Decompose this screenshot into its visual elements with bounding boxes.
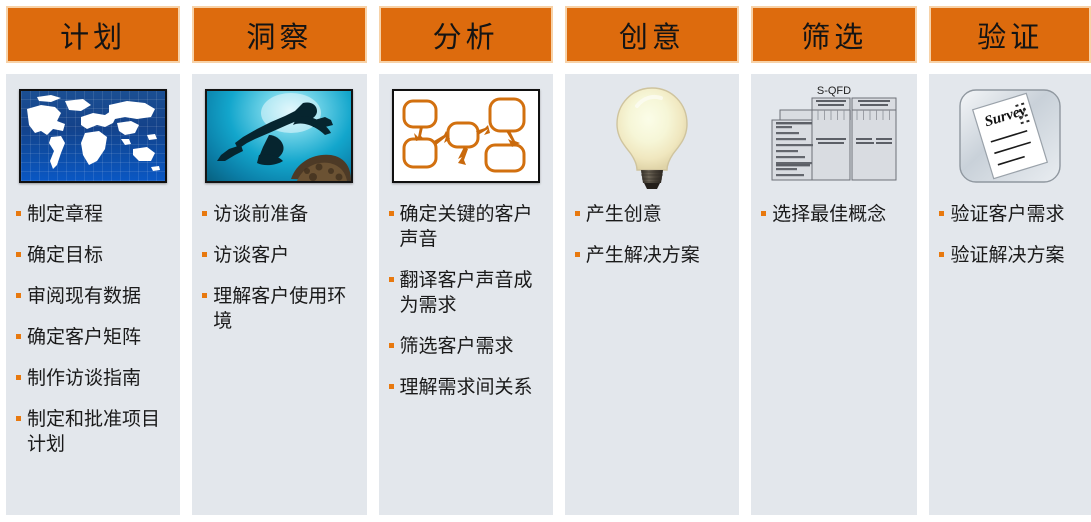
phase-body-creative: 产生创意产生解决方案 <box>565 74 739 515</box>
phase-title: 洞察 <box>246 14 312 56</box>
bullet-label: 访谈前准备 <box>213 202 358 227</box>
list-item[interactable]: 翻译客户声音成为需求 <box>389 268 545 318</box>
phase-bullet-list: 制定章程确定目标审阅现有数据确定客户矩阵制作访谈指南制定和批准项目计划 <box>6 198 180 515</box>
list-item[interactable]: 制作访谈指南 <box>16 366 172 391</box>
bullet-label: 制定章程 <box>27 202 172 227</box>
bullet-label: 产生解决方案 <box>586 243 731 268</box>
phase-bullet-list: 确定关键的客户声音翻译客户声音成为需求筛选客户需求理解需求间关系 <box>379 198 553 515</box>
bullet-label: 产生创意 <box>586 202 731 227</box>
phase-title: 分析 <box>433 14 499 56</box>
bullet-square-icon <box>202 211 207 216</box>
list-item[interactable]: 确定目标 <box>16 243 172 268</box>
phase-body-screening: S-QFD选择最佳概念 <box>751 74 917 515</box>
lightbulb-icon <box>597 80 707 192</box>
phase-bullet-list: 选择最佳概念 <box>751 198 917 515</box>
sqfd-matrix-image: S-QFD <box>766 80 902 192</box>
bullet-square-icon <box>16 252 21 257</box>
bullet-square-icon <box>202 293 207 298</box>
phase-column-plan[interactable]: 计划制定章程确定目标审阅现有数据确定客户矩阵制作访谈指南制定和批准项目计划 <box>6 0 180 522</box>
list-item[interactable]: 验证客户需求 <box>939 202 1083 227</box>
list-item[interactable]: 产生解决方案 <box>575 243 731 268</box>
bullet-label: 制定和批准项目计划 <box>27 407 172 457</box>
bullet-square-icon <box>16 375 21 380</box>
phase-bullet-list: 验证客户需求验证解决方案 <box>929 198 1091 515</box>
scuba-diver-image <box>205 89 353 183</box>
lightbulb-glyph <box>597 80 707 192</box>
bullet-square-icon <box>575 252 580 257</box>
bullet-square-icon <box>16 416 21 421</box>
bullet-label: 制作访谈指南 <box>27 366 172 391</box>
phase-header-insight[interactable]: 洞察 <box>192 6 366 63</box>
bullet-label: 确定目标 <box>27 243 172 268</box>
survey-document-icon: Survey <box>954 84 1066 188</box>
bullet-square-icon <box>939 211 944 216</box>
list-item[interactable]: 制定章程 <box>16 202 172 227</box>
bullet-square-icon <box>389 211 394 216</box>
bullet-label: 筛选客户需求 <box>400 334 545 359</box>
bullet-square-icon <box>389 277 394 282</box>
phase-body-validation: Survey验证客户需求验证解决方案 <box>929 74 1091 515</box>
svg-text:S-QFD: S-QFD <box>817 85 851 97</box>
phase-header-plan[interactable]: 计划 <box>6 6 180 63</box>
bullet-square-icon <box>761 211 766 216</box>
phase-thumbnail-wrap: S-QFD <box>751 74 917 198</box>
phase-header-creative[interactable]: 创意 <box>565 6 739 63</box>
list-item[interactable]: 审阅现有数据 <box>16 284 172 309</box>
bullet-label: 验证客户需求 <box>950 202 1083 227</box>
phase-body-plan: 制定章程确定目标审阅现有数据确定客户矩阵制作访谈指南制定和批准项目计划 <box>6 74 180 515</box>
phase-title: 计划 <box>60 14 126 56</box>
bullet-square-icon <box>389 384 394 389</box>
list-item[interactable]: 制定和批准项目计划 <box>16 407 172 457</box>
survey-document-glyph: Survey <box>954 84 1066 188</box>
flow-diagram-image <box>392 89 540 183</box>
bullet-square-icon <box>575 211 580 216</box>
sqfd-matrix-glyph: S-QFD <box>766 80 902 192</box>
list-item[interactable]: 确定关键的客户声音 <box>389 202 545 252</box>
phase-title: 验证 <box>977 14 1043 56</box>
bullet-square-icon <box>16 293 21 298</box>
phase-body-analysis: 确定关键的客户声音翻译客户声音成为需求筛选客户需求理解需求间关系 <box>379 74 553 515</box>
bullet-square-icon <box>16 211 21 216</box>
bullet-square-icon <box>939 252 944 257</box>
phase-bullet-list: 产生创意产生解决方案 <box>565 198 739 515</box>
phase-thumbnail-wrap <box>6 74 180 198</box>
bullet-label: 审阅现有数据 <box>27 284 172 309</box>
phase-title: 创意 <box>619 14 685 56</box>
world-map-continents <box>21 91 165 181</box>
bullet-label: 验证解决方案 <box>950 243 1083 268</box>
bullet-label: 理解客户使用环境 <box>213 284 358 334</box>
phase-title: 筛选 <box>801 14 867 56</box>
phase-column-analysis[interactable]: 分析确定关键的客户声音翻译客户声音成为需求筛选客户需求理解需求间关系 <box>379 0 553 522</box>
bullet-label: 翻译客户声音成为需求 <box>400 268 545 318</box>
phase-thumbnail-wrap: Survey <box>929 74 1091 198</box>
bullet-label: 确定关键的客户声音 <box>400 202 545 252</box>
list-item[interactable]: 筛选客户需求 <box>389 334 545 359</box>
bullet-square-icon <box>16 334 21 339</box>
phase-column-insight[interactable]: 洞察访谈前准备访谈客户理解客户使用环境 <box>192 0 366 522</box>
phase-header-validation[interactable]: 验证 <box>929 6 1091 63</box>
flow-diagram-nodes <box>394 91 538 181</box>
phase-column-creative[interactable]: 创意产生创意产生解决方案 <box>565 0 739 522</box>
bullet-label: 理解需求间关系 <box>400 375 545 400</box>
world-map-image <box>19 89 167 183</box>
process-phases-board: 计划制定章程确定目标审阅现有数据确定客户矩阵制作访谈指南制定和批准项目计划洞察访… <box>0 0 1091 522</box>
bullet-label: 确定客户矩阵 <box>27 325 172 350</box>
phase-column-screening[interactable]: 筛选S-QFD选择最佳概念 <box>751 0 917 522</box>
phase-header-screening[interactable]: 筛选 <box>751 6 917 63</box>
phase-thumbnail-wrap <box>379 74 553 198</box>
bullet-square-icon <box>202 252 207 257</box>
list-item[interactable]: 验证解决方案 <box>939 243 1083 268</box>
list-item[interactable]: 产生创意 <box>575 202 731 227</box>
phase-bullet-list: 访谈前准备访谈客户理解客户使用环境 <box>192 198 366 515</box>
phase-thumbnail-wrap <box>565 74 739 198</box>
list-item[interactable]: 访谈客户 <box>202 243 358 268</box>
diver-silhouette <box>207 91 351 181</box>
list-item[interactable]: 确定客户矩阵 <box>16 325 172 350</box>
phase-thumbnail-wrap <box>192 74 366 198</box>
list-item[interactable]: 理解需求间关系 <box>389 375 545 400</box>
bullet-label: 选择最佳概念 <box>772 202 909 227</box>
phase-column-validation[interactable]: 验证Survey验证客户需求验证解决方案 <box>929 0 1091 522</box>
list-item[interactable]: 访谈前准备 <box>202 202 358 227</box>
list-item[interactable]: 选择最佳概念 <box>761 202 909 227</box>
phase-header-analysis[interactable]: 分析 <box>379 6 553 63</box>
bullet-square-icon <box>389 343 394 348</box>
bullet-label: 访谈客户 <box>213 243 358 268</box>
list-item[interactable]: 理解客户使用环境 <box>202 284 358 334</box>
phase-body-insight: 访谈前准备访谈客户理解客户使用环境 <box>192 74 366 515</box>
